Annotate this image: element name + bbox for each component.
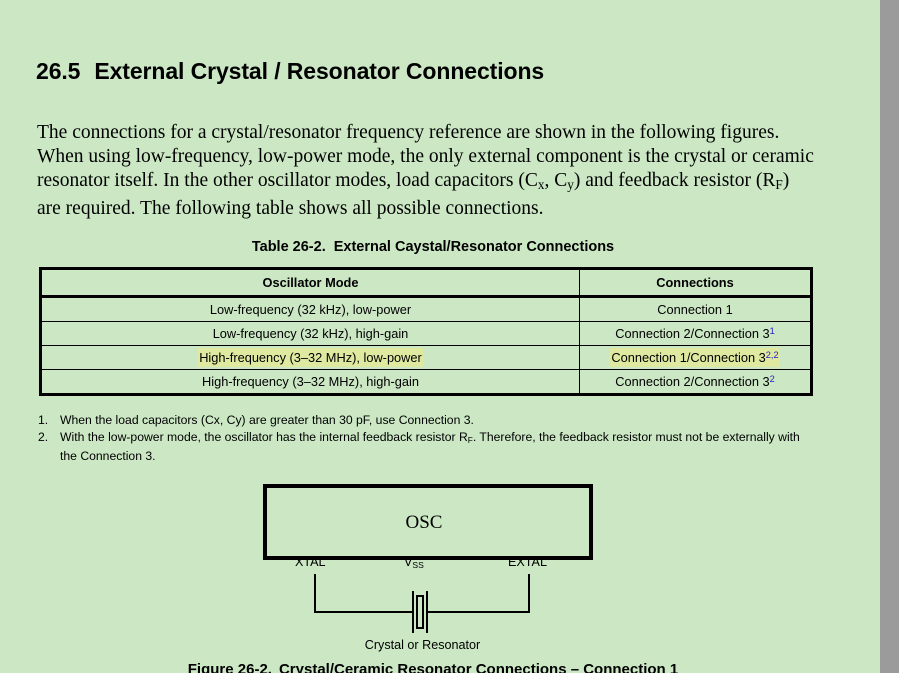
connection-text: Connection 2/Connection 3 — [615, 374, 769, 389]
cell-connections: Connection 1/Connection 32,2 — [580, 346, 812, 370]
intro-text-part3: ) and feedback resistor (R — [574, 170, 775, 191]
footnote-item: 1. When the load capacitors (Cx, Cy) are… — [38, 412, 813, 429]
highlighted-text: High-frequency (3–32 MHz), low-power — [198, 348, 423, 367]
column-header-oscillator-mode: Oscillator Mode — [41, 269, 580, 297]
crystal-caption: Crystal or Resonator — [0, 638, 845, 652]
footnote-number: 2. — [38, 429, 60, 446]
subscript-y: y — [567, 177, 574, 192]
pin-label-extal: EXTAL — [508, 555, 547, 569]
pin-label-xtal: XTAL — [295, 555, 326, 569]
pin-label-vss-subscript: SS — [412, 560, 423, 570]
table-header-row: Oscillator Mode Connections — [41, 269, 812, 297]
table-row: High-frequency (3–32 MHz), high-gain Con… — [41, 370, 812, 395]
footnote-number: 1. — [38, 412, 60, 429]
wire-left-horizontal — [314, 611, 412, 613]
table-row-highlighted: High-frequency (3–32 MHz), low-power Con… — [41, 346, 812, 370]
connection-text: Connection 1/Connection 3 — [611, 350, 765, 365]
connection-text: Connection 2/Connection 3 — [615, 326, 769, 341]
subscript-f: F — [775, 177, 782, 192]
table-row: Low-frequency (32 kHz), low-power Connec… — [41, 297, 812, 322]
crystal-plate-right — [426, 591, 428, 633]
connection-text: Connection 1 — [657, 302, 732, 317]
cell-oscillator-mode: High-frequency (3–32 MHz), low-power — [41, 346, 580, 370]
figure-caption-title: Crystal/Ceramic Resonator Connections – … — [279, 661, 678, 673]
crystal-body — [416, 595, 424, 629]
footnote-item: 2. With the low-power mode, the oscillat… — [38, 429, 813, 465]
table-row: Low-frequency (32 kHz), high-gain Connec… — [41, 322, 812, 346]
cell-oscillator-mode: High-frequency (3–32 MHz), high-gain — [41, 370, 580, 395]
cell-connections: Connection 2/Connection 32 — [580, 370, 812, 395]
cell-connections: Connection 1 — [580, 297, 812, 322]
wire-right-horizontal — [428, 611, 530, 613]
page-title: 26.5External Crystal / Resonator Connect… — [36, 58, 544, 85]
wire-xtal-vertical — [314, 574, 316, 613]
cell-oscillator-mode: Low-frequency (32 kHz), high-gain — [41, 322, 580, 346]
footnote-text: With the low-power mode, the oscillator … — [60, 429, 813, 465]
cell-connections: Connection 2/Connection 31 — [580, 322, 812, 346]
footnote-text-part1: With the low-power mode, the oscillator … — [60, 430, 468, 444]
oscillator-connections-table: Oscillator Mode Connections Low-frequenc… — [39, 267, 813, 396]
osc-block-label: OSC — [263, 512, 585, 534]
figure-caption-number: Figure 26-2. — [188, 661, 272, 673]
wire-extal-vertical — [528, 574, 530, 613]
document-page: 26.5External Crystal / Resonator Connect… — [0, 0, 880, 673]
figure-caption: Figure 26-2.Crystal/Ceramic Resonator Co… — [0, 661, 866, 673]
table-caption-number: Table 26-2. — [252, 239, 326, 255]
highlighted-text: Connection 1/Connection 32,2 — [610, 348, 779, 367]
footnote-reference[interactable]: 2 — [770, 374, 775, 384]
footnote-reference[interactable]: 2,2 — [766, 350, 779, 360]
page-right-margin — [880, 0, 899, 673]
subscript-x: x — [538, 177, 545, 192]
intro-paragraph: The connections for a crystal/resonator … — [37, 121, 817, 222]
table-caption: Table 26-2.External Caystal/Resonator Co… — [0, 239, 866, 255]
section-number: 26.5 — [36, 58, 80, 84]
oscillator-connection-diagram: OSC XTAL VSS EXTAL Crystal or Resonator — [0, 478, 880, 673]
footnote-list: 1. When the load capacitors (Cx, Cy) are… — [38, 412, 813, 465]
table-caption-title: External Caystal/Resonator Connections — [334, 239, 614, 255]
crystal-symbol-icon — [410, 591, 430, 633]
section-title: External Crystal / Resonator Connections — [94, 58, 544, 84]
cell-oscillator-mode: Low-frequency (32 kHz), low-power — [41, 297, 580, 322]
intro-text-part2: , C — [545, 170, 568, 191]
crystal-plate-left — [412, 591, 414, 633]
pin-label-vss: VSS — [404, 555, 424, 570]
footnote-reference[interactable]: 1 — [770, 326, 775, 336]
column-header-connections: Connections — [580, 269, 812, 297]
footnote-text: When the load capacitors (Cx, Cy) are gr… — [60, 412, 813, 429]
